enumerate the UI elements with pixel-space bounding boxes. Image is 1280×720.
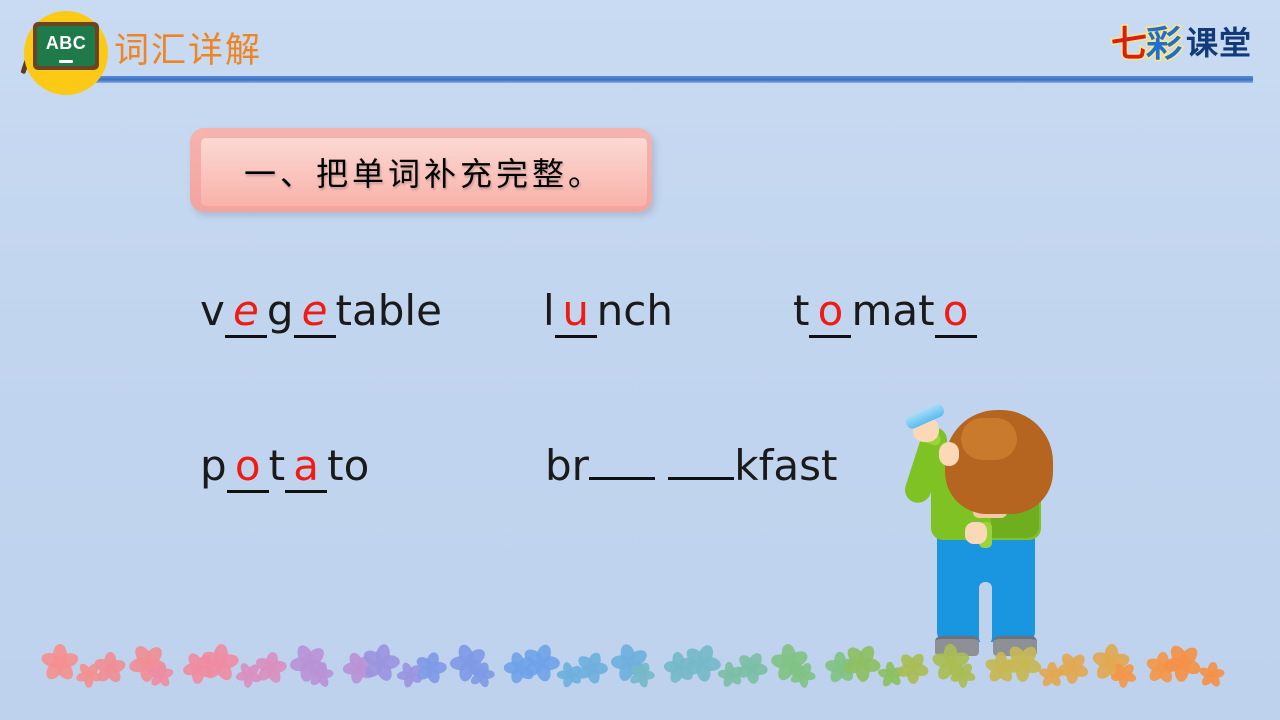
child-ear: [939, 442, 959, 466]
chalk-mark-icon: [59, 60, 73, 63]
chalkboard-icon: ABC: [24, 11, 108, 95]
page-title: 词汇详解: [114, 22, 262, 73]
word-potato-part-1: p: [200, 441, 227, 490]
chalkboard-frame: ABC: [33, 22, 99, 70]
word-breakfast-spacer: [655, 441, 668, 490]
flower-icon: [1156, 636, 1210, 690]
exercise-word-list: vegetable lunch tomato potato br kfast: [0, 286, 1280, 596]
brand-logo: 七 彩 课堂: [1111, 18, 1252, 64]
child-lowered-hand: [965, 522, 987, 544]
chalkboard-label: ABC: [37, 33, 95, 54]
flower-icon: [1105, 657, 1142, 694]
child-illustration: [895, 404, 1085, 672]
child-leg-gap: [979, 582, 992, 644]
exercise-title-text: 一、把单词补充完整。: [244, 149, 604, 195]
flower-icon: [785, 657, 820, 692]
flower-icon: [1091, 643, 1131, 683]
flower-icon: [121, 636, 174, 689]
brand-logo-text-ketang: 课堂: [1186, 18, 1252, 64]
word-potato-part-2: t: [269, 441, 285, 490]
word-potato-part-3: to: [327, 441, 369, 490]
child-shoe-right: [993, 636, 1037, 656]
flower-icon: [71, 657, 107, 693]
word-breakfast-blank-1[interactable]: [589, 477, 655, 480]
flower-icon: [1198, 661, 1227, 690]
word-tomato-part-1: t: [793, 286, 809, 335]
flower-icon: [658, 646, 702, 690]
flower-icon: [306, 660, 336, 690]
exercise-row-2: potato br kfast: [0, 441, 1280, 596]
flower-icon: [677, 638, 727, 688]
flower-icon: [713, 657, 748, 692]
word-tomato-blank-2[interactable]: o: [935, 286, 977, 338]
child-hair-highlight: [961, 418, 1017, 460]
word-potato[interactable]: potato: [200, 441, 369, 493]
word-vegetable-part-2: g: [267, 286, 294, 335]
word-potato-blank-1[interactable]: o: [227, 441, 269, 493]
word-lunch[interactable]: lunch: [543, 286, 673, 338]
flower-icon: [282, 636, 336, 690]
flower-icon: [147, 661, 175, 689]
flower-border-decoration: [0, 636, 1280, 720]
flower-icon: [253, 650, 289, 686]
flower-icon: [391, 657, 428, 694]
flower-icon: [625, 658, 659, 692]
page-header: ABC 词汇详解 七 彩 课堂: [0, 0, 1280, 100]
word-lunch-blank-1[interactable]: u: [555, 286, 597, 338]
flower-icon: [94, 651, 127, 684]
word-vegetable-part-1: v: [200, 286, 225, 335]
flower-icon: [603, 637, 656, 690]
flower-icon: [731, 647, 774, 690]
flower-icon: [41, 644, 79, 682]
flower-icon: [358, 640, 403, 685]
flower-icon: [1144, 651, 1179, 686]
flower-icon: [466, 659, 498, 691]
exercise-title-banner: 一、把单词补充完整。: [190, 128, 652, 212]
word-breakfast-blank-2[interactable]: [668, 477, 734, 480]
flower-icon: [497, 646, 542, 691]
exercise-row-1: vegetable lunch tomato: [0, 286, 1280, 441]
child-shoe-left: [935, 636, 979, 656]
flower-icon: [517, 639, 565, 687]
flower-icon: [819, 647, 862, 690]
word-lunch-part-2: nch: [597, 286, 673, 335]
word-tomato-part-2: mat: [851, 286, 934, 335]
flower-icon: [337, 645, 382, 690]
flower-icon: [836, 637, 888, 689]
flower-icon: [200, 642, 242, 684]
flower-icon: [412, 649, 451, 688]
flower-icon: [571, 647, 612, 688]
word-potato-blank-2[interactable]: a: [285, 441, 327, 493]
word-breakfast-part-1: br: [545, 441, 589, 490]
flower-icon: [552, 657, 588, 693]
flower-icon: [442, 636, 495, 689]
word-vegetable-blank-1[interactable]: e: [225, 286, 267, 338]
word-vegetable-part-3: table: [336, 286, 442, 335]
word-breakfast-part-2: kfast: [734, 441, 837, 490]
brand-logo-char-qi: 七: [1111, 15, 1148, 67]
header-divider: [88, 76, 1253, 83]
word-tomato-blank-1[interactable]: o: [809, 286, 851, 338]
brand-logo-char-cai: 彩: [1146, 15, 1183, 67]
exercise-title-banner-inner: 一、把单词补充完整。: [201, 138, 647, 206]
word-vegetable[interactable]: vegetable: [200, 286, 442, 338]
chalkboard-surface: ABC: [37, 26, 95, 66]
word-vegetable-blank-2[interactable]: e: [294, 286, 336, 338]
flower-icon: [765, 637, 816, 688]
flower-icon: [176, 645, 221, 690]
word-tomato[interactable]: tomato: [793, 286, 977, 338]
flower-icon: [231, 657, 268, 694]
word-lunch-part-1: l: [543, 286, 555, 335]
word-breakfast[interactable]: br kfast: [545, 441, 838, 490]
